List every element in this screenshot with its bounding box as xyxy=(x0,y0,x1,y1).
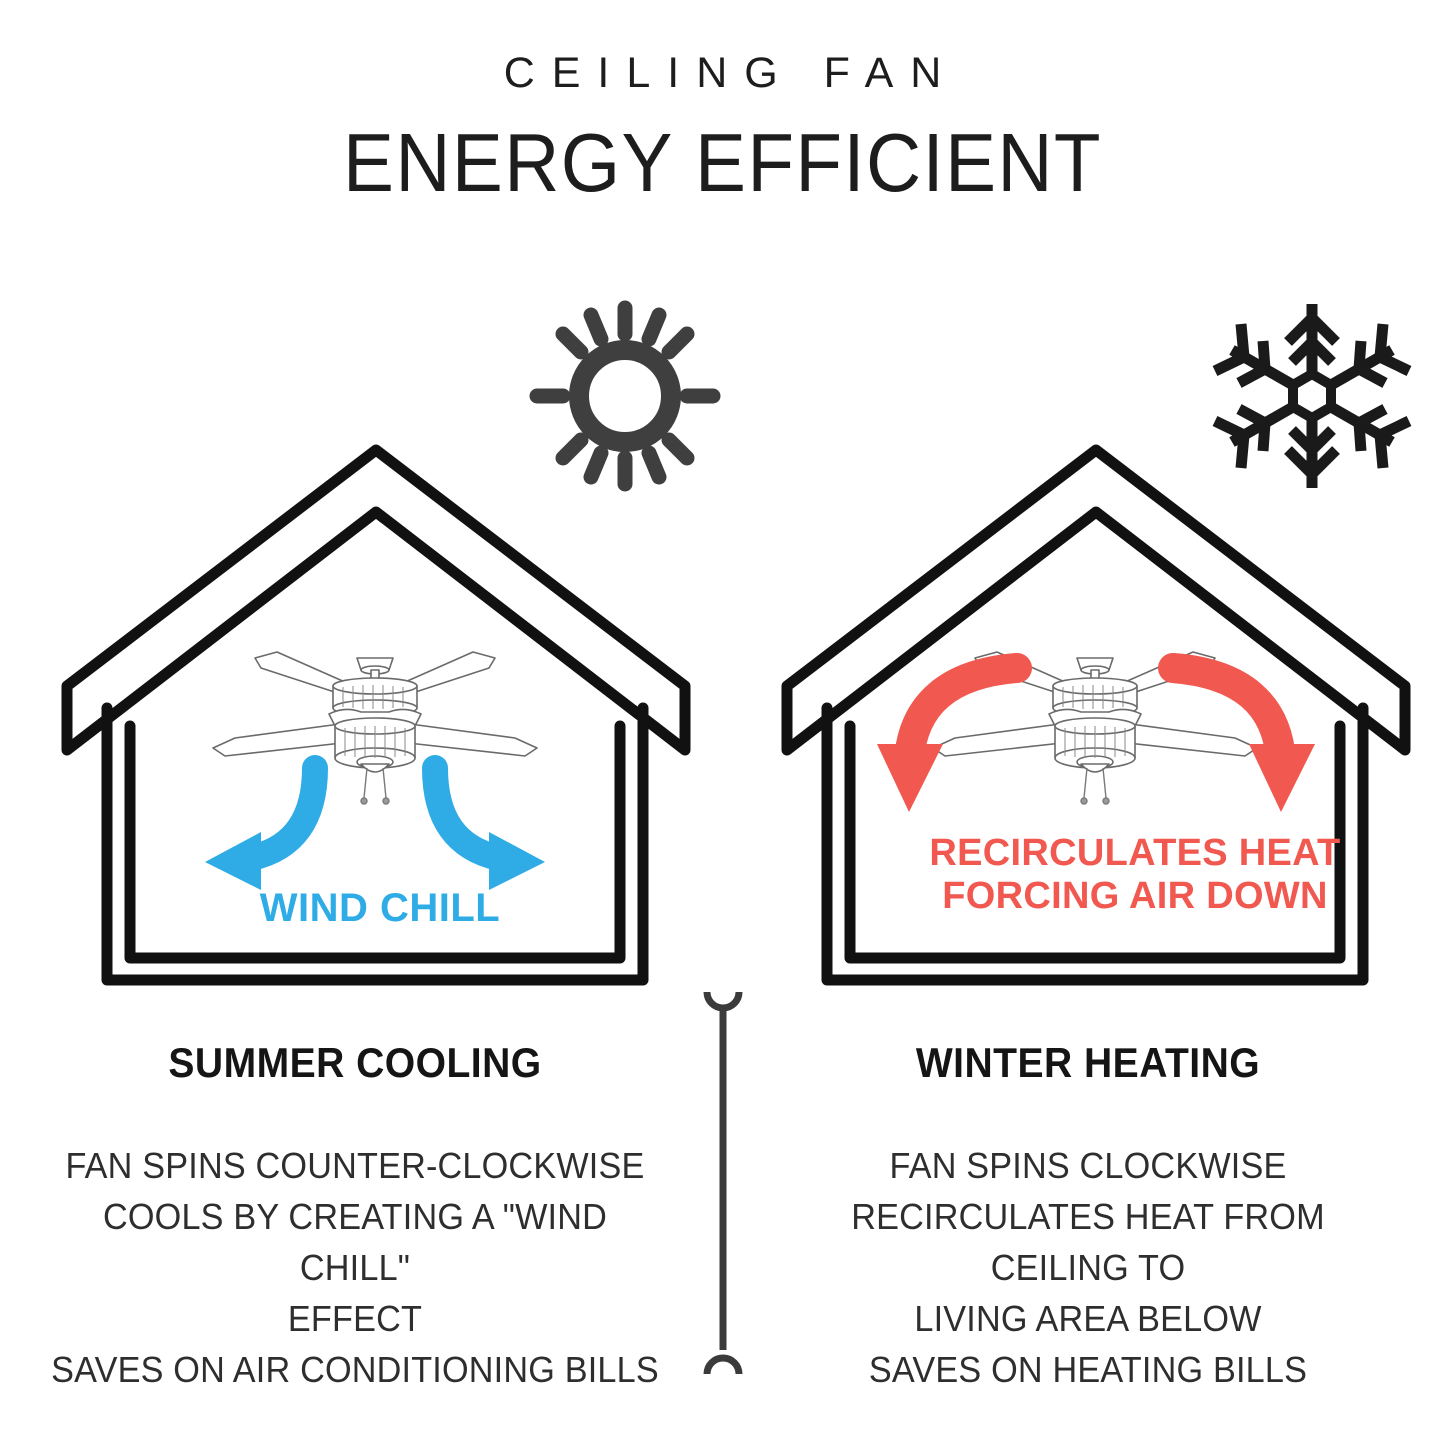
caption-summer: SUMMER COOLING FAN SPINS COUNTER-CLOCKWI… xyxy=(35,1042,675,1396)
page-header: CEILING FAN ENERGY EFFICIENT xyxy=(0,52,1445,204)
airflow-arrow-left xyxy=(205,768,315,890)
summer-heading: SUMMER COOLING xyxy=(57,1042,652,1084)
infographic-page: CEILING FAN ENERGY EFFICIENT xyxy=(0,0,1445,1445)
winter-heading: WINTER HEATING xyxy=(790,1042,1385,1084)
divider-line-icon xyxy=(700,984,746,1389)
page-title: ENERGY EFFICIENT xyxy=(58,121,1387,204)
page-kicker: CEILING FAN xyxy=(0,52,1445,95)
wind-chill-label: WIND CHILL xyxy=(120,886,640,931)
ceiling-fan-summer xyxy=(213,652,537,804)
recirculates-heat-label: RECIRCULATES HEAT FORCING AIR DOWN xyxy=(855,832,1415,917)
caption-winter: WINTER HEATING FAN SPINS CLOCKWISE RECIR… xyxy=(768,1042,1408,1396)
winter-body: FAN SPINS CLOCKWISE RECIRCULATES HEAT FR… xyxy=(784,1140,1392,1396)
summer-body: FAN SPINS COUNTER-CLOCKWISE COOLS BY CRE… xyxy=(51,1140,659,1396)
airflow-arrow-right xyxy=(435,768,545,890)
